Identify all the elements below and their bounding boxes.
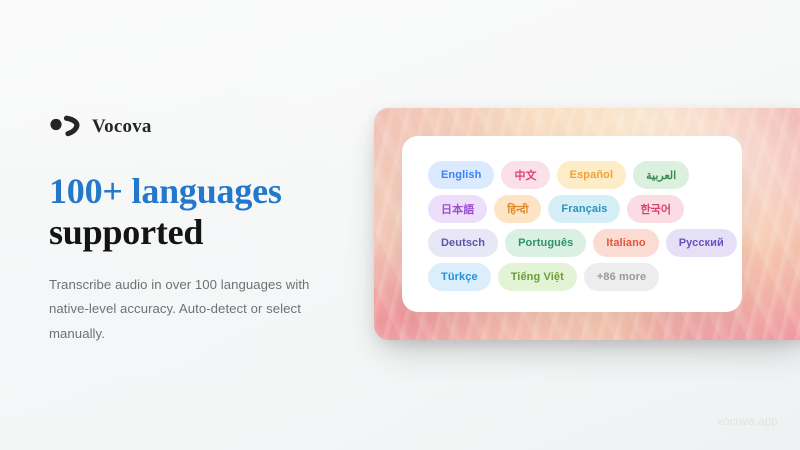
site-watermark: vocova.app <box>717 416 778 428</box>
vocova-logo-icon <box>49 115 83 137</box>
language-chip[interactable]: Español <box>557 161 627 189</box>
left-content-column: Vocova 100+ languages supported Transcri… <box>49 113 349 346</box>
language-chip[interactable]: Türkçe <box>428 263 491 291</box>
language-chip[interactable]: 中文 <box>501 161 549 189</box>
subcopy-text: Transcribe audio in over 100 languages w… <box>49 273 334 346</box>
language-chip-grid: English中文Españolالعربية日本語हिन्दीFrançais… <box>428 161 720 291</box>
page-title: 100+ languages supported <box>49 171 349 253</box>
language-chip[interactable]: العربية <box>633 161 689 189</box>
headline-accent-line: 100+ languages <box>49 171 349 212</box>
language-chip[interactable]: Deutsch <box>428 229 498 257</box>
language-chip-row: 日本語हिन्दीFrançais한국어 <box>428 195 720 223</box>
language-chip[interactable]: 日本語 <box>428 195 487 223</box>
language-chip[interactable]: +86 more <box>584 263 659 291</box>
language-chip[interactable]: Italiano <box>593 229 658 257</box>
language-chip-row: DeutschPortuguêsItalianoРусский <box>428 229 720 257</box>
language-chip-row: English中文Españolالعربية <box>428 161 720 189</box>
language-chip-row: TürkçeTiếng Việt+86 more <box>428 263 720 291</box>
language-list-card: English中文Españolالعربية日本語हिन्दीFrançais… <box>402 136 742 312</box>
brand-lockup: Vocova <box>49 113 349 139</box>
language-chip[interactable]: Tiếng Việt <box>498 263 577 291</box>
language-chip[interactable]: 한국어 <box>627 195 684 223</box>
headline-base-line: supported <box>49 212 349 253</box>
language-chip[interactable]: Русский <box>666 229 737 257</box>
language-chip[interactable]: Français <box>548 195 620 223</box>
brand-name: Vocova <box>92 117 152 136</box>
language-chip[interactable]: English <box>428 161 494 189</box>
language-chip[interactable]: Português <box>505 229 586 257</box>
promo-slide: Vocova 100+ languages supported Transcri… <box>0 0 800 450</box>
language-chip[interactable]: हिन्दी <box>494 195 541 223</box>
